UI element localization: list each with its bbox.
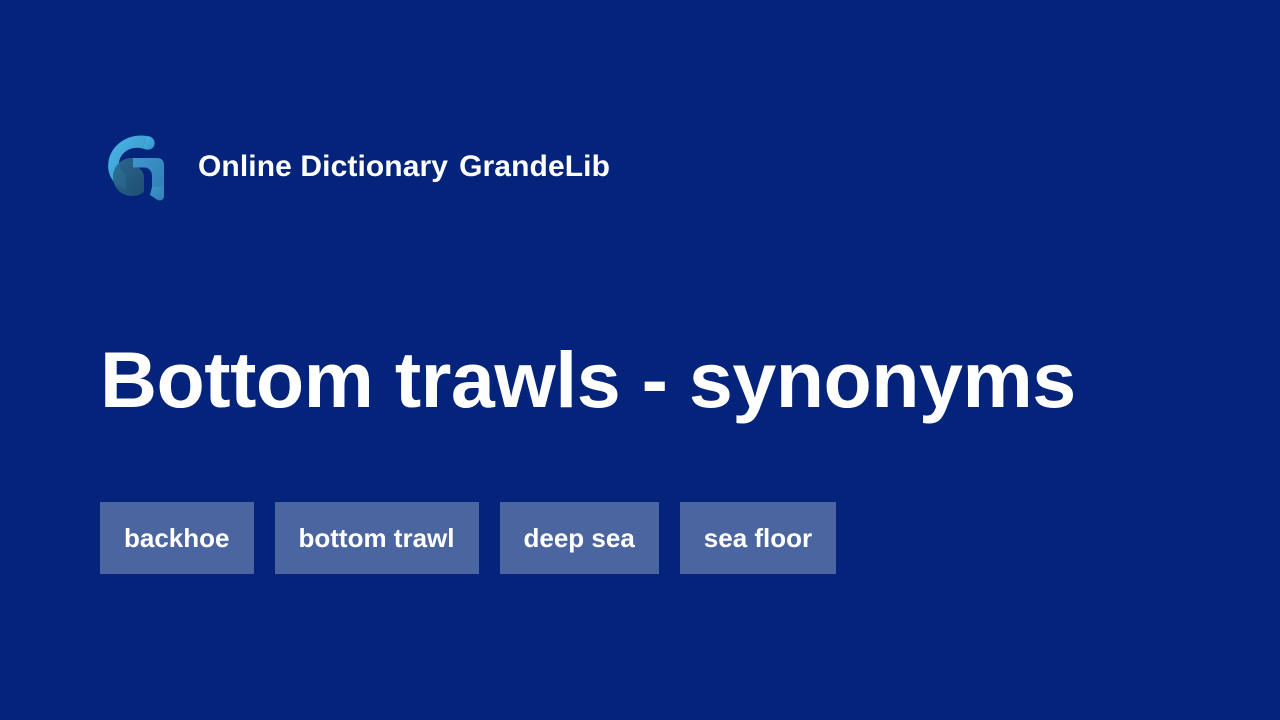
page-title: Bottom trawls - synonyms (100, 337, 1190, 422)
synonym-chip[interactable]: deep sea (500, 502, 659, 574)
synonyms-slide: Online Dictionary GrandeLib Bottom trawl… (0, 0, 1280, 720)
brand-name-secondary: GrandeLib (459, 152, 610, 182)
synonym-chip-list: backhoe bottom trawl deep sea sea floor (100, 502, 836, 574)
brand-title: Online Dictionary GrandeLib (198, 152, 610, 182)
synonym-chip[interactable]: sea floor (680, 502, 836, 574)
synonym-chip[interactable]: backhoe (100, 502, 254, 574)
brand-header[interactable]: Online Dictionary GrandeLib (100, 131, 610, 203)
synonym-chip[interactable]: bottom trawl (275, 502, 479, 574)
brand-name-primary: Online Dictionary (198, 152, 448, 182)
grandelib-g-logo-icon (100, 131, 172, 203)
